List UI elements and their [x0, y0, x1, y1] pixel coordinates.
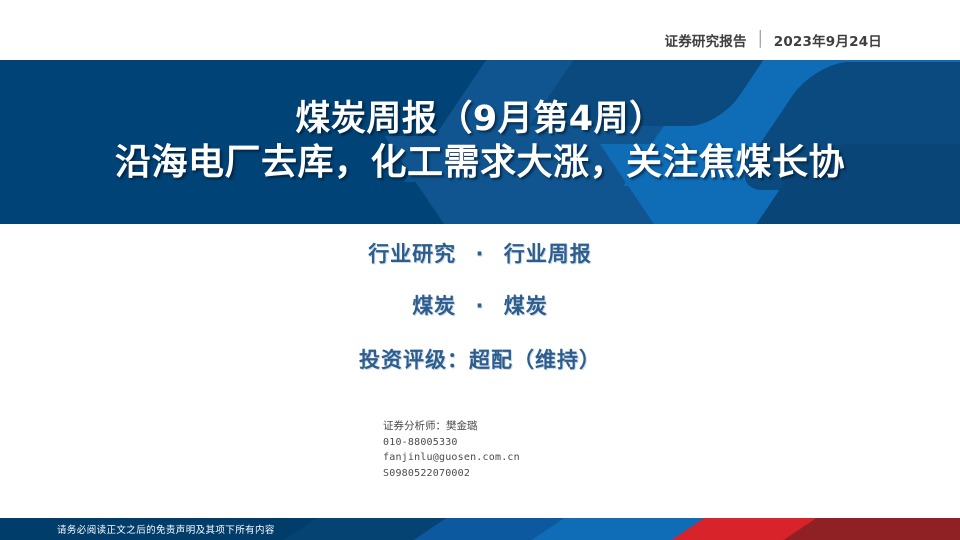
- industry-research-label: 行业研究: [368, 242, 456, 266]
- header-meta: 证券研究报告 │ 2023年9月24日: [665, 30, 883, 50]
- footer-bar: 请务必阅读正文之后的免责声明及其项下所有内容: [0, 518, 960, 540]
- report-date: 2023年9月24日: [774, 30, 882, 50]
- analyst-phone: 010-88005330: [383, 435, 520, 451]
- footer-disclaimer: 请务必阅读正文之后的免责声明及其项下所有内容: [57, 518, 275, 540]
- dot-separator-icon: ·: [465, 242, 496, 266]
- analyst-info: 证券分析师：樊金璐 010-88005330 fanjinlu@guosen.c…: [383, 419, 520, 481]
- analyst-license-number: S0980522070002: [383, 466, 520, 482]
- report-title-secondary: 沿海电厂去库，化工需求大涨，关注焦煤长协: [115, 144, 845, 183]
- sector-label: 煤炭: [412, 294, 456, 318]
- analyst-email[interactable]: fanjinlu@guosen.com.cn: [383, 450, 520, 466]
- title-banner: 煤炭周报（9月第4周） 沿海电厂去库，化工需求大涨，关注焦煤长协: [0, 60, 960, 224]
- investment-rating: 投资评级：超配（维持）: [0, 344, 960, 374]
- industry-weekly-label: 行业周报: [504, 242, 592, 266]
- report-type-label: 证券研究报告: [665, 30, 747, 50]
- title-group: 煤炭周报（9月第4周） 沿海电厂去库，化工需求大涨，关注焦煤长协: [0, 60, 960, 224]
- analyst-name: 证券分析师：樊金璐: [383, 419, 520, 435]
- classification-row-industry: 行业研究 · 行业周报: [0, 238, 960, 268]
- report-classification: 行业研究 · 行业周报 煤炭 · 煤炭 投资评级：超配（维持）: [0, 238, 960, 374]
- report-title-primary: 煤炭周报（9月第4周）: [295, 101, 664, 139]
- classification-row-sector: 煤炭 · 煤炭: [0, 290, 960, 320]
- header-divider: │: [756, 30, 765, 48]
- dot-separator-icon: ·: [465, 294, 496, 318]
- sub-sector-label: 煤炭: [504, 294, 548, 318]
- footer-band-segment: [784, 518, 960, 540]
